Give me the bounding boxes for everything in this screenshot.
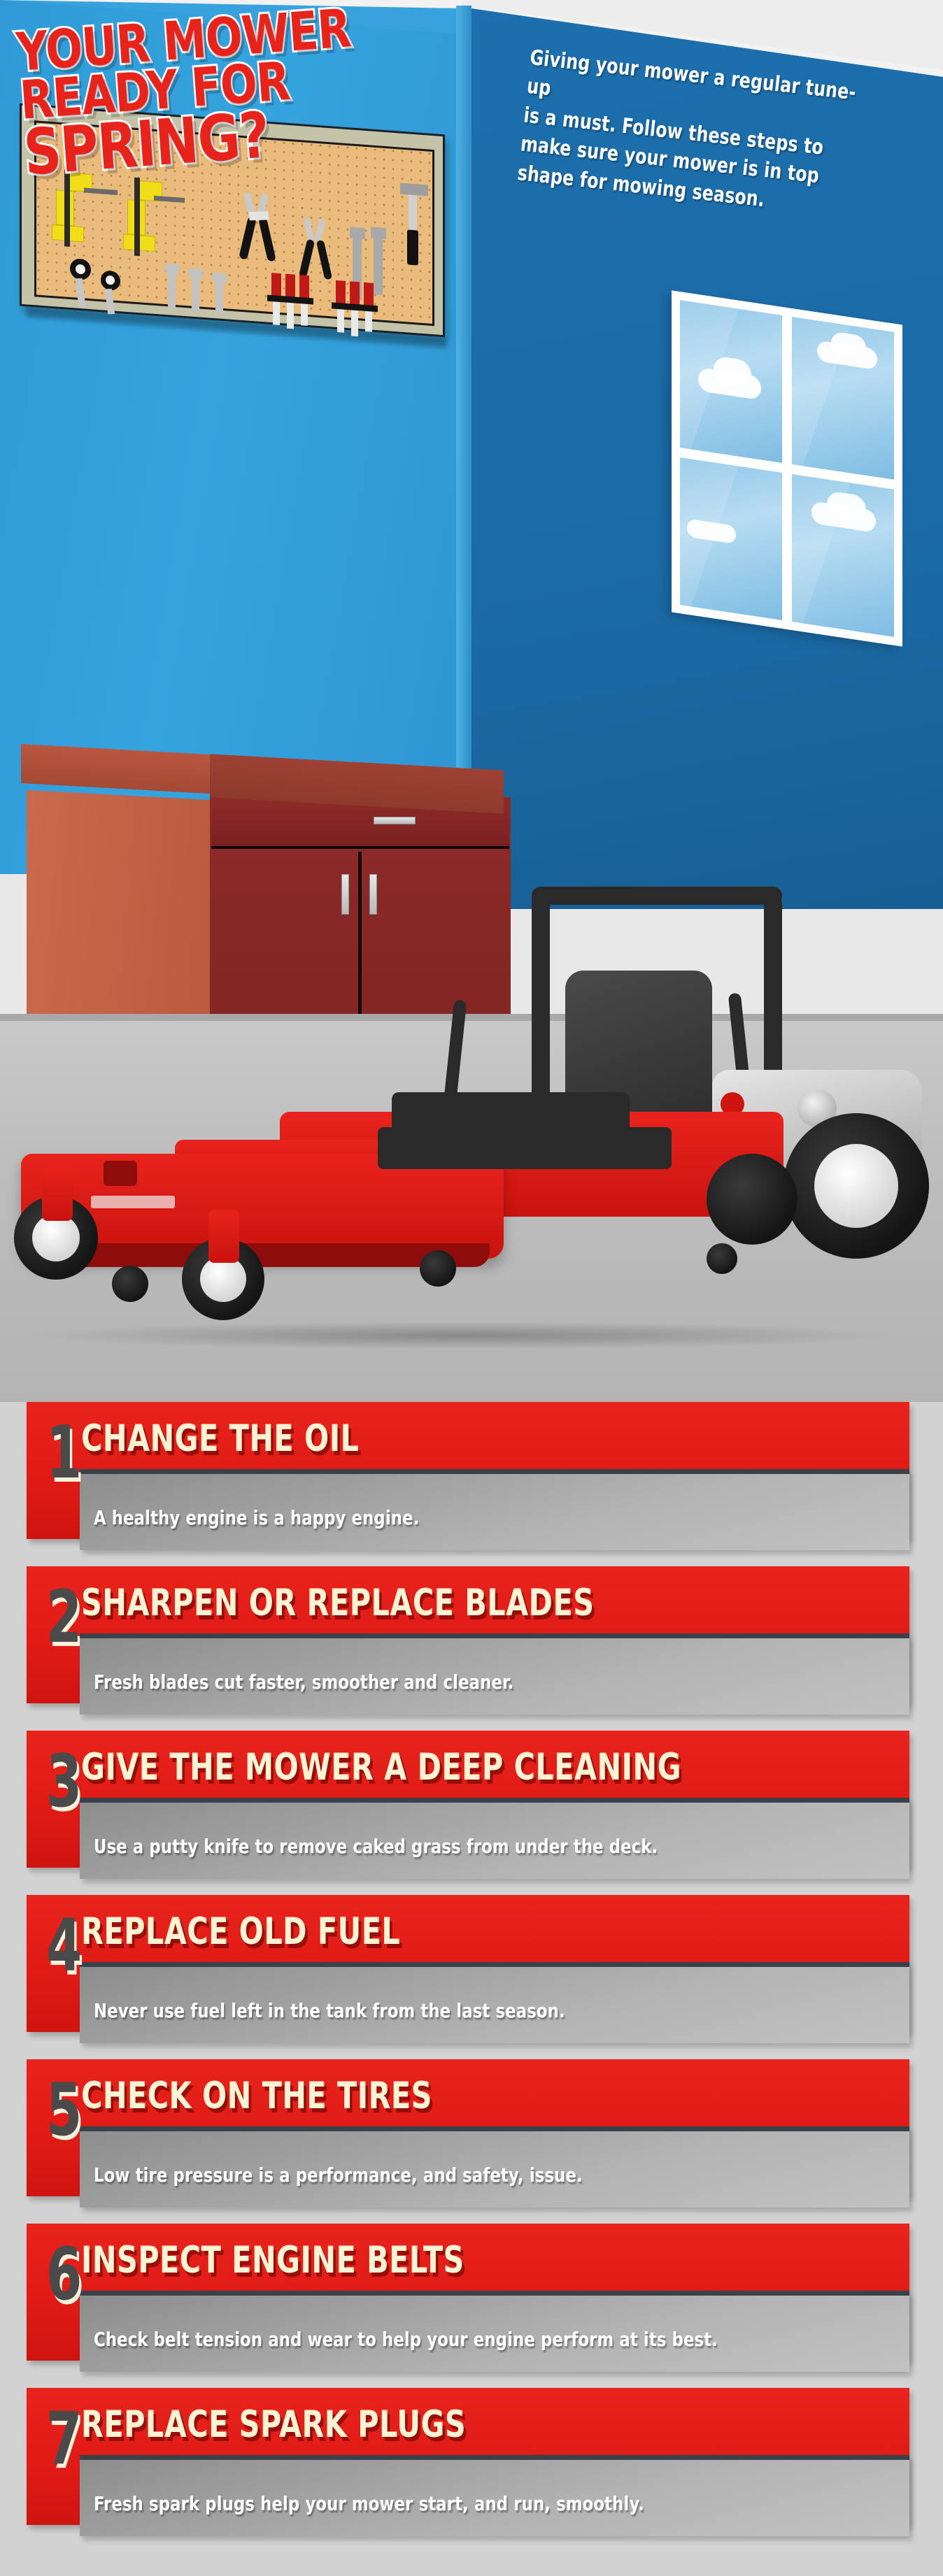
ratchet-icon [76,264,85,275]
zero-turn-mower [0,860,943,1402]
window-pane [680,300,782,463]
step-title: REPLACE OLD FUEL [81,1913,400,1949]
infographic-page: YOUR MOWER READY FOR SPRING? Giving your… [0,0,943,2576]
step-description: Fresh blades cut faster, smoother and cl… [94,1670,514,1694]
steps-list: 1 CHANGE THE OIL A healthy engine is a h… [0,1402,943,2552]
cloud-icon [827,491,866,523]
wrench-icon [371,227,386,240]
screwdriver-icon [364,282,374,307]
step-description-panel: A healthy engine is a happy engine. [80,1469,909,1550]
screwdriver-icon [350,281,360,306]
step-item: 6 INSPECT ENGINE BELTS Check belt tensio… [27,2224,909,2372]
window-pane [792,474,894,637]
pliers-pivot-icon [248,211,269,220]
mower-footplate [392,1092,630,1137]
pliers-icon [315,219,326,242]
step-item: 5 CHECK ON THE TIRES Low tire pressure i… [27,2059,909,2208]
drawer-handle-icon [374,817,416,824]
window-panes [680,300,894,637]
wrench-icon [189,268,203,278]
step-description-panel: Fresh blades cut faster, smoother and cl… [80,1633,909,1715]
step-description: Low tire pressure is a performance, and … [94,2163,583,2187]
mower-anti-scalp-roller [707,1243,737,1274]
step-description: A healthy engine is a happy engine. [94,1506,419,1529]
mower-deck-badge [91,1196,175,1208]
pliers-handle-icon [258,217,276,262]
mower-rear-tire [707,1154,797,1245]
step-item: 3 GIVE THE MOWER A DEEP CLEANING Use a p… [27,1731,909,1879]
mower-rollbar-top [532,887,782,905]
mower-caster-arm [42,1165,73,1221]
step-number: 1 [46,1417,82,1489]
hammer-icon [409,195,417,232]
step-item: 2 SHARPEN OR REPLACE BLADES Fresh blades… [27,1566,909,1715]
cloud-icon [831,331,866,359]
page-title: YOUR MOWER READY FOR SPRING? [15,0,444,172]
step-description: Never use fuel left in the tank from the… [94,1999,565,2022]
pliers-handle-icon [299,238,315,278]
step-title: SHARPEN OR REPLACE BLADES [81,1584,594,1621]
step-title: CHECK ON THE TIRES [81,2077,432,2114]
ratchet-handle-icon [76,278,86,307]
step-title: GIVE THE MOWER A DEEP CLEANING [81,1749,681,1785]
pliers-handle-icon [239,216,257,260]
step-description-panel: Never use fuel left in the tank from the… [80,1962,909,2043]
screwdriver-icon [299,275,309,299]
step-title: REPLACE SPARK PLUGS [81,2406,466,2442]
step-title: CHANGE THE OIL [81,1420,359,1457]
step-description: Use a putty knife to remove caked grass … [94,1835,658,1858]
hero-illustration: YOUR MOWER READY FOR SPRING? Giving your… [0,0,943,1402]
clamp-bar-icon [134,178,140,257]
pliers-icon [304,217,315,241]
step-description-panel: Check belt tension and wear to help your… [80,2291,909,2372]
ratchet-handle-icon [105,289,115,315]
mower-rear-rim [814,1144,898,1228]
mower-anti-scalp-roller [112,1266,148,1302]
step-description-panel: Low tire pressure is a performance, and … [80,2126,909,2208]
mower-rollbar [532,888,550,1119]
clamp-rod-icon [84,187,118,195]
window-pane [792,317,894,480]
step-item: 1 CHANGE THE OIL A healthy engine is a h… [27,1402,909,1550]
mower-caster-arm [208,1210,239,1263]
window-pane [680,457,782,620]
step-number: 4 [46,1910,82,1982]
wrench-icon [165,264,179,274]
hammer-icon [400,183,428,196]
step-item: 7 REPLACE SPARK PLUGS Fresh spark plugs … [27,2388,909,2536]
clamp-rod-icon [154,196,185,203]
step-description-panel: Fresh spark plugs help your mower start,… [80,2455,909,2536]
ratchet-icon [106,276,115,285]
step-item: 4 REPLACE OLD FUEL Never use fuel left i… [27,1895,909,2043]
step-number: 2 [46,1582,82,1654]
screwdriver-icon [336,280,346,305]
hammer-grip-icon [407,229,418,265]
cloud-icon [687,519,736,544]
step-number: 3 [46,1746,82,1818]
wrench-icon [374,230,383,295]
step-description-panel: Use a putty knife to remove caked grass … [80,1798,909,1879]
step-number: 5 [46,2075,82,2147]
step-number: 6 [46,2239,82,2311]
wrench-icon [213,273,227,283]
mower-anti-scalp-roller [420,1250,456,1287]
mower-ground-shadow [21,1322,902,1350]
screwdriver-icon [285,274,295,299]
step-title: INSPECT ENGINE BELTS [81,2242,465,2278]
screwdriver-icon [271,273,281,297]
step-description: Fresh spark plugs help your mower start,… [94,2492,644,2515]
step-description: Check belt tension and wear to help your… [94,2328,718,2351]
step-number: 7 [46,2403,82,2475]
garage-window [672,290,902,646]
pliers-handle-icon [316,240,332,280]
mower-deck-logo [104,1161,137,1186]
mower-caster-rim [32,1214,80,1261]
wrench-icon [350,227,365,239]
